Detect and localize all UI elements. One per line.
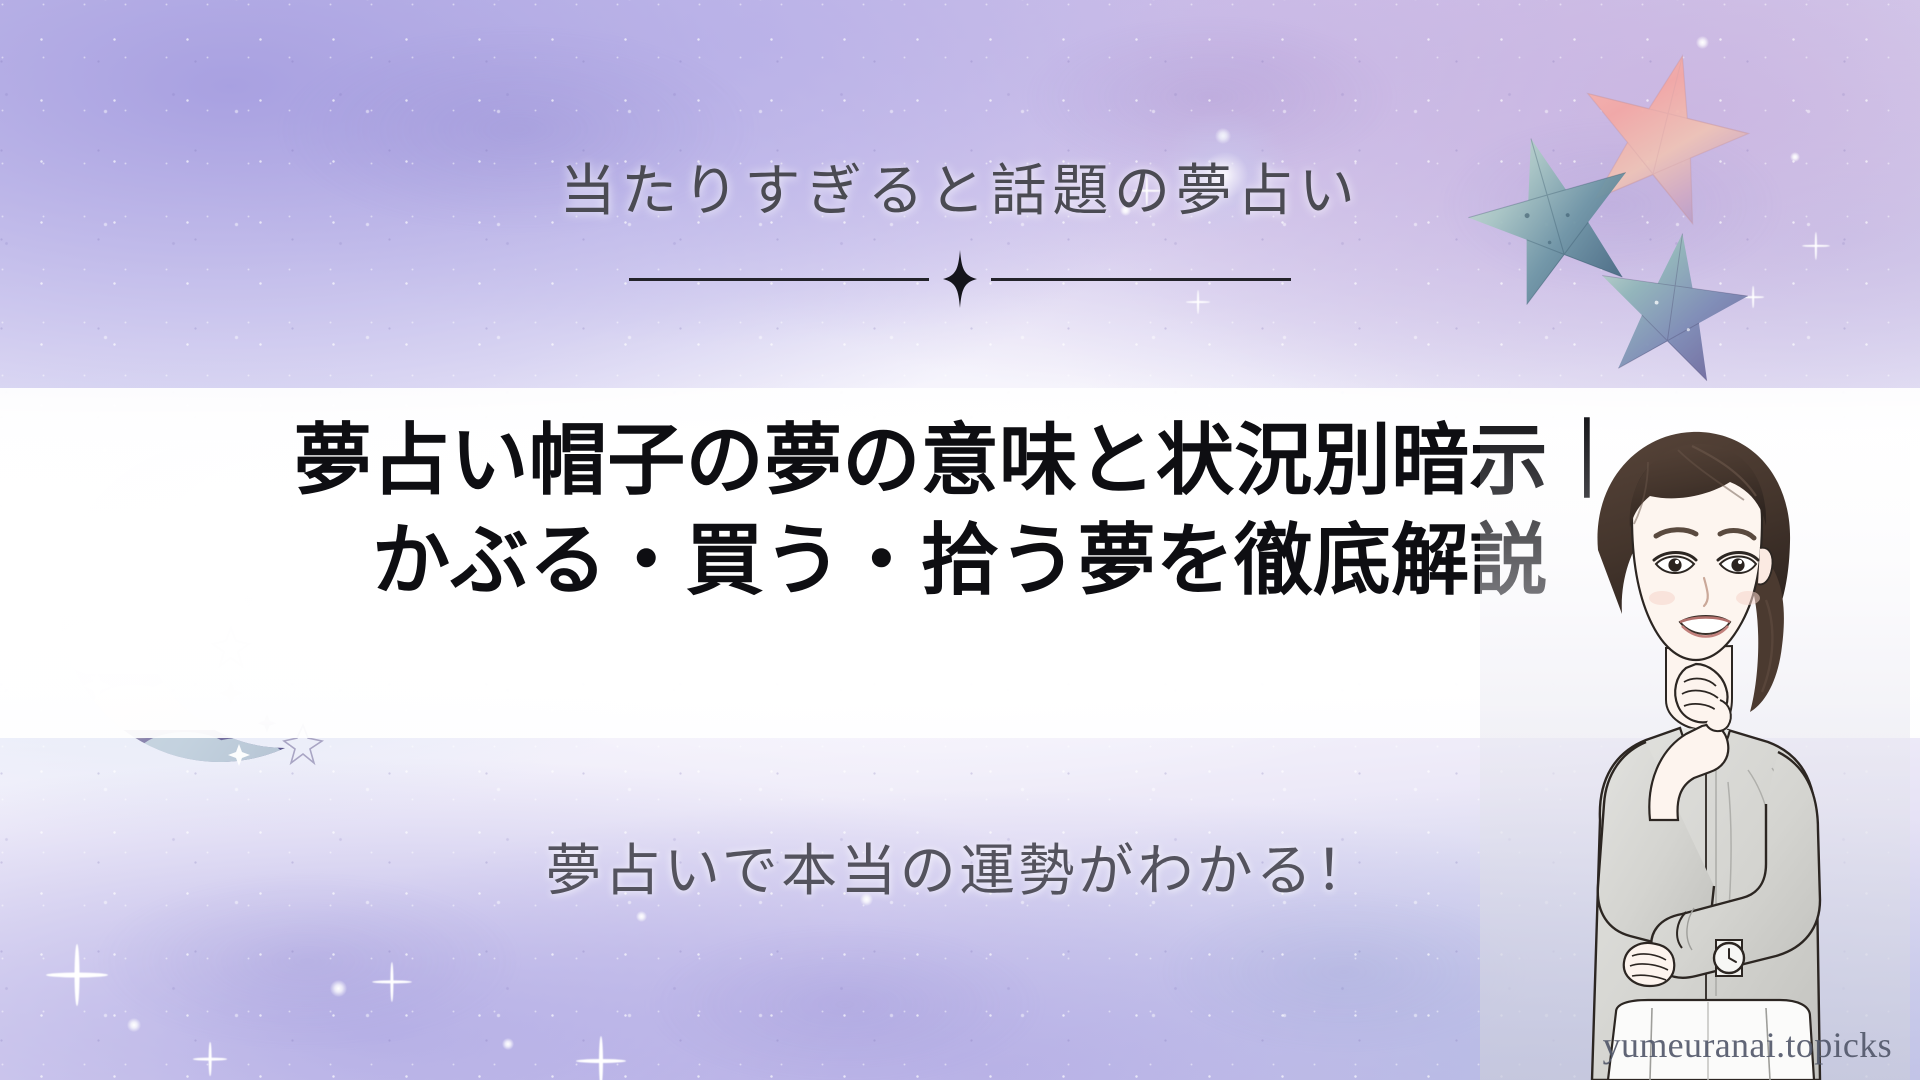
header-block: 当たりすぎると話題の夢占い [0,160,1920,308]
sparkle-icon [372,962,412,1002]
header-tagline: 当たりすぎると話題の夢占い [0,160,1920,224]
divider-rule-right [991,278,1291,281]
glow-dot [330,980,347,997]
illustrated-woman-hand-on-chin-icon [1480,400,1910,1080]
sparkle-icon [46,944,108,1006]
divider-rule-left [629,278,929,281]
sparkle-icon [576,1036,626,1080]
glow-dot [636,911,647,922]
header-divider [0,250,1920,308]
glow-dot [127,1018,141,1032]
four-point-star-icon [943,250,977,308]
site-watermark: yumeuranai.topicks [1603,1024,1892,1066]
glow-dot [502,1038,514,1050]
poster-canvas: 当たりすぎると話題の夢占い 夢占い帽子の夢の意味と状況別暗示｜ かぶる・買う・拾… [0,0,1920,1080]
glow-dot [1696,36,1709,49]
sparkle-icon [193,1042,227,1076]
